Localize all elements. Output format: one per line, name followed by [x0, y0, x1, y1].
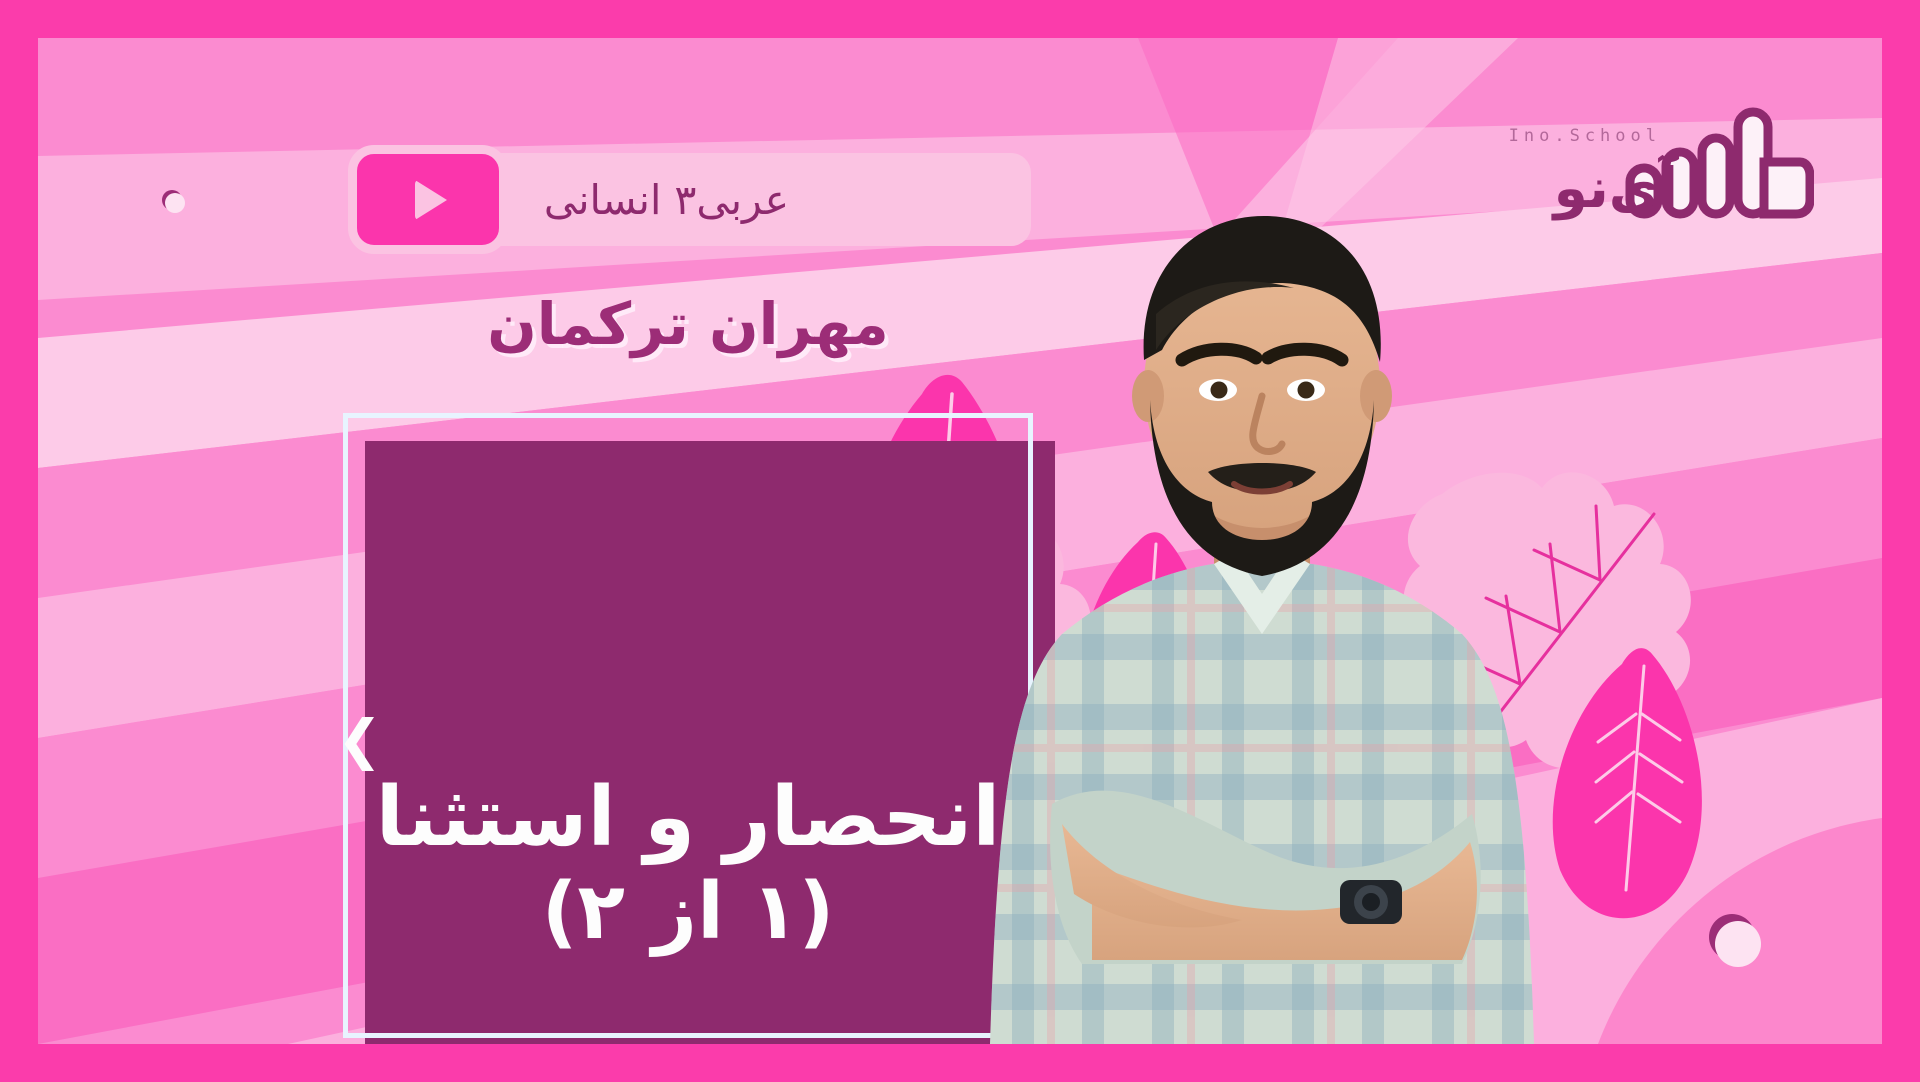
instructor-photo	[942, 164, 1582, 1044]
instructor-name: مهران ترکمان	[338, 290, 1038, 358]
play-triangle-icon	[415, 180, 447, 220]
course-label-pill[interactable]: عربی۳ انسانی	[348, 153, 1031, 246]
logo-english-text: Ino.School	[1509, 126, 1661, 146]
decorative-dot-top-left	[162, 190, 182, 210]
play-button[interactable]	[348, 145, 508, 254]
inner-panel: Ino.School آی‌نو عربی۳ انسانی مهران ترکم…	[38, 38, 1882, 1044]
instructor-svg	[942, 164, 1582, 1044]
thumbnail-canvas: Ino.School آی‌نو عربی۳ انسانی مهران ترکم…	[0, 0, 1920, 1082]
lesson-card-outline	[343, 413, 1033, 1038]
decorative-dot-bottom-right	[1709, 914, 1755, 960]
chevron-left-icon: ❯	[337, 713, 382, 767]
